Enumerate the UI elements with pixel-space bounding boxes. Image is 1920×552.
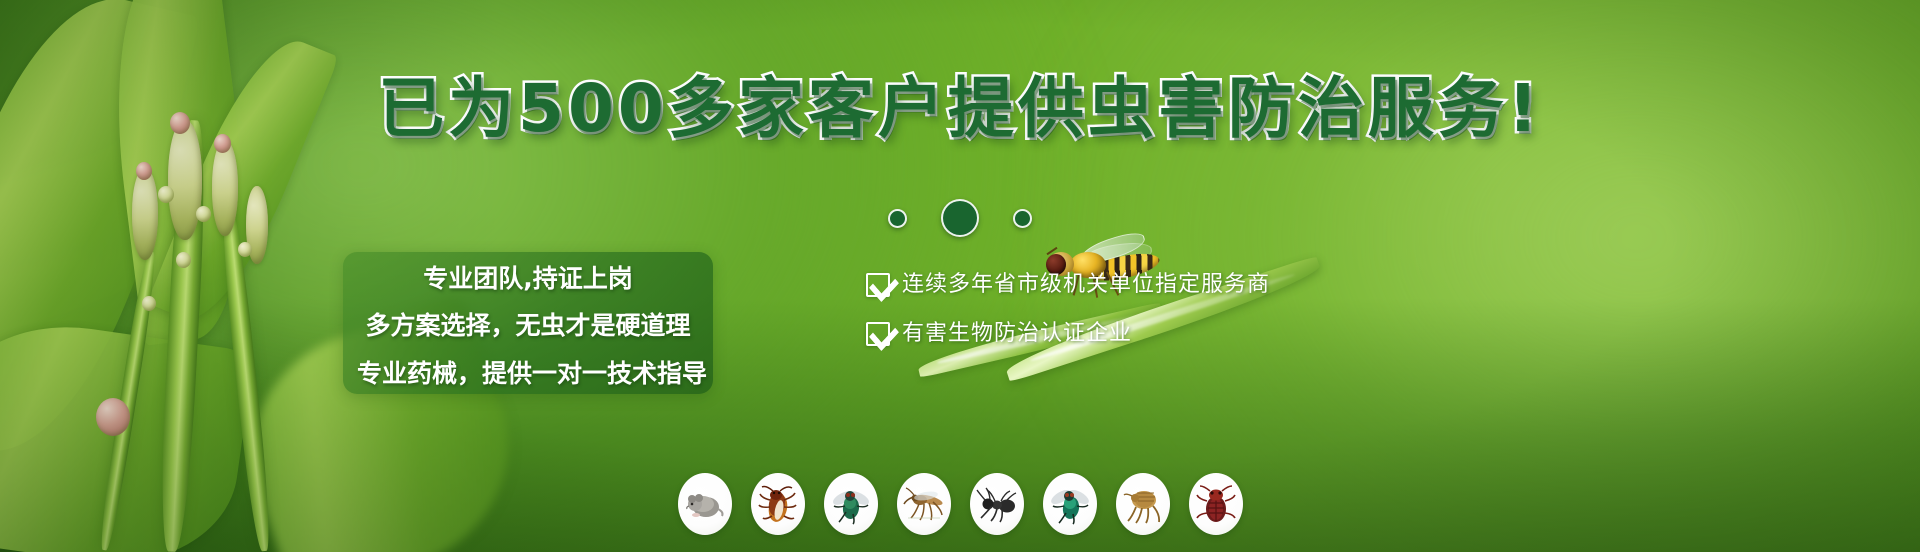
- fly-icon[interactable]: [824, 473, 878, 535]
- checkmark-icon: [866, 273, 890, 297]
- selling-point-line-1: 专业团队,持证上岗: [357, 256, 699, 302]
- selling-point-line-3: 专业药械，提供一对一技术指导: [357, 350, 699, 398]
- credential-label: 有害生物防治认证企业: [902, 321, 1132, 347]
- credentials-checklist: 连续多年省市级机关单位指定服务商 有害生物防治认证企业: [866, 272, 1270, 347]
- dot-small-left: [888, 209, 907, 228]
- ant-icon[interactable]: [970, 473, 1024, 535]
- banner-headline-text: 已为500多家客户提供虫害防治服务!: [378, 72, 1542, 146]
- banner-headline: 已为500多家客户提供虫害防治服务!: [0, 72, 1920, 146]
- flea-icon[interactable]: [1116, 473, 1170, 535]
- mouse-icon[interactable]: [678, 473, 732, 535]
- blowfly-icon[interactable]: [1043, 473, 1097, 535]
- pest-control-hero-banner: 已为500多家客户提供虫害防治服务! 专业团队,持证上岗 多方案选择，无虫才是硬…: [0, 0, 1920, 552]
- dot-large-center: [941, 199, 979, 237]
- cockroach-icon[interactable]: [751, 473, 805, 535]
- credential-label: 连续多年省市级机关单位指定服务商: [902, 272, 1270, 298]
- list-item: 连续多年省市级机关单位指定服务商: [866, 272, 1270, 298]
- mosquito-icon[interactable]: [897, 473, 951, 535]
- selling-point-line-2: 多方案选择，无虫才是硬道理: [357, 302, 699, 350]
- checkmark-icon: [866, 322, 890, 346]
- decorative-dot-group: [0, 199, 1920, 237]
- pest-icon-row: [0, 473, 1920, 535]
- selling-points-panel: 专业团队,持证上岗 多方案选择，无虫才是硬道理 专业药械，提供一对一技术指导: [343, 252, 713, 394]
- list-item: 有害生物防治认证企业: [866, 321, 1270, 347]
- bedbug-icon[interactable]: [1189, 473, 1243, 535]
- dot-small-right: [1013, 209, 1032, 228]
